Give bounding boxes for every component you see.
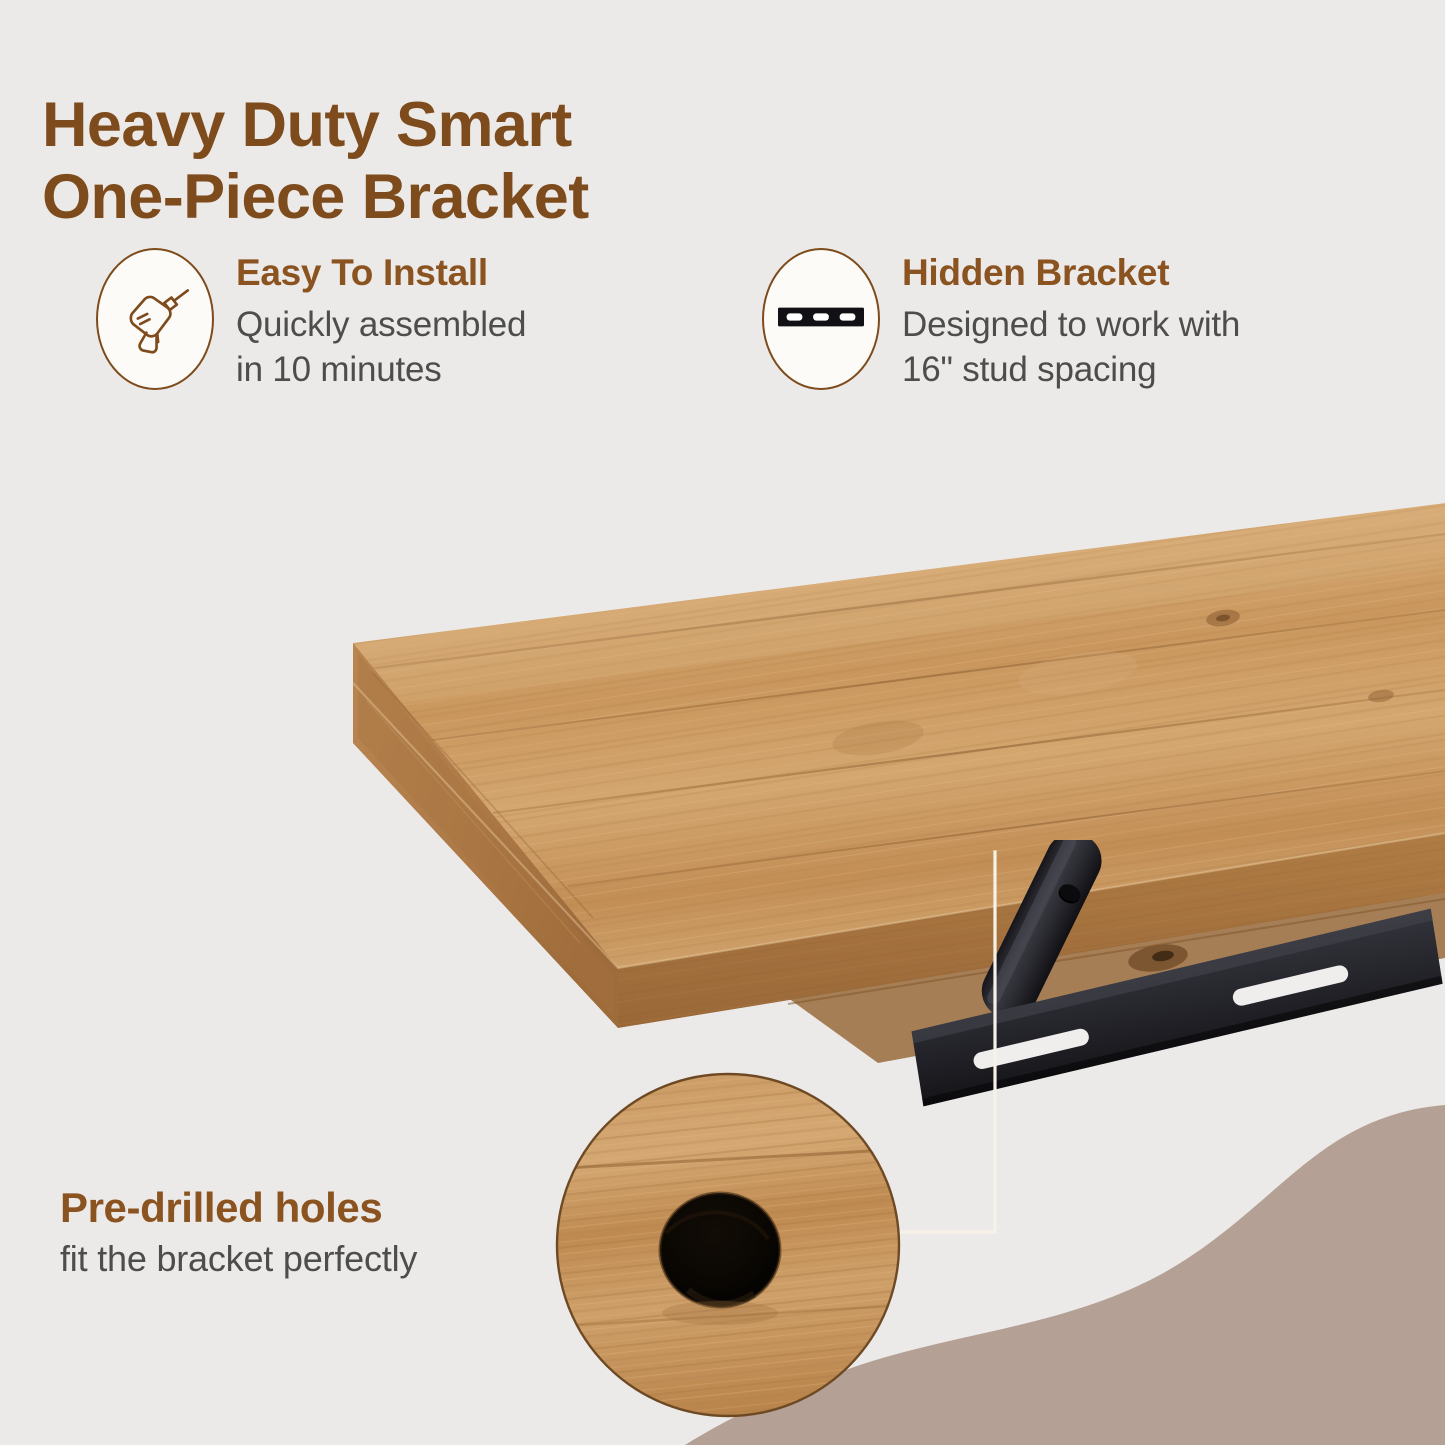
page-title-line-1: Heavy Duty Smart — [42, 90, 862, 162]
feature-text-hidden: Hidden Bracket Designed to work with 16"… — [880, 248, 1240, 393]
feature-easy-to-install: Easy To Install Quickly assembled in 10 … — [96, 248, 526, 393]
caption-pre-drilled-holes: Pre-drilled holes fit the bracket perfec… — [60, 1185, 580, 1280]
product-photo — [0, 400, 1445, 1445]
feature-badge-install — [96, 248, 214, 390]
feature-badge-hidden — [762, 248, 880, 390]
feature-desc-install: Quickly assembled in 10 minutes — [236, 302, 526, 393]
feature-desc-install-line-2: in 10 minutes — [236, 347, 526, 393]
page-title: Heavy Duty Smart One-Piece Bracket — [42, 90, 862, 234]
caption-title: Pre-drilled holes — [60, 1185, 580, 1230]
page-title-line-2: One-Piece Bracket — [42, 162, 862, 234]
feature-title-hidden: Hidden Bracket — [902, 254, 1240, 293]
feature-desc-hidden-line-2: 16" stud spacing — [902, 347, 1240, 393]
bracket-bar-icon — [778, 302, 864, 337]
feature-desc-install-line-1: Quickly assembled — [236, 302, 526, 348]
drill-icon — [116, 278, 194, 361]
feature-title-install: Easy To Install — [236, 254, 526, 293]
pre-drilled-hole-closeup — [548, 1065, 908, 1425]
feature-desc-hidden-line-1: Designed to work with — [902, 302, 1240, 348]
feature-desc-hidden: Designed to work with 16" stud spacing — [902, 302, 1240, 393]
product-infographic: Heavy Duty Smart One-Piece Bracket — [0, 0, 1445, 1445]
feature-text-install: Easy To Install Quickly assembled in 10 … — [214, 248, 526, 393]
caption-subtitle: fit the bracket perfectly — [60, 1238, 580, 1279]
feature-hidden-bracket: Hidden Bracket Designed to work with 16"… — [762, 248, 1240, 393]
